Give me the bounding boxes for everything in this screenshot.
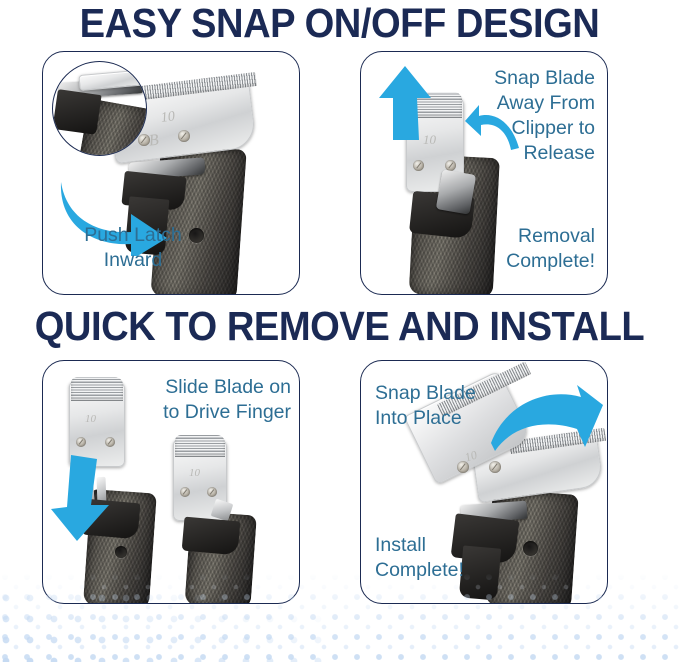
- caption-slide-blade-drive-finger: Slide Blade on to Drive Finger: [111, 375, 291, 425]
- caption-snap-blade-into-place: Snap Blade Into Place: [375, 381, 535, 431]
- inset-detail-latch-closeup: [52, 61, 147, 156]
- blade-size-marking: 10: [160, 109, 176, 127]
- panel-snap-blade-into-place: 10 Snap Blade Into Place Install Complet…: [360, 360, 608, 604]
- heading-quick-to-remove-and-install: QUICK TO REMOVE AND INSTALL: [24, 303, 655, 350]
- caption-push-latch-inward: Push Latch Inward: [43, 223, 223, 273]
- caption-install-complete: Install Complete!: [375, 533, 535, 583]
- arrow-down-icon: [49, 453, 113, 543]
- heading-easy-snap-on-off-design: EASY SNAP ON/OFF DESIGN: [24, 0, 655, 47]
- caption-removal-complete: Removal Complete!: [425, 224, 595, 274]
- panel-push-latch: 10 B Push Latch Inward: [42, 51, 300, 295]
- panel-snap-blade-away: 10 Snap Blade Away From Clipper to Relea…: [360, 51, 608, 295]
- caption-snap-blade-away: Snap Blade Away From Clipper to Release: [415, 66, 595, 166]
- panel-slide-blade: 10 10 Slide Blade on to Drive Finger: [42, 360, 300, 604]
